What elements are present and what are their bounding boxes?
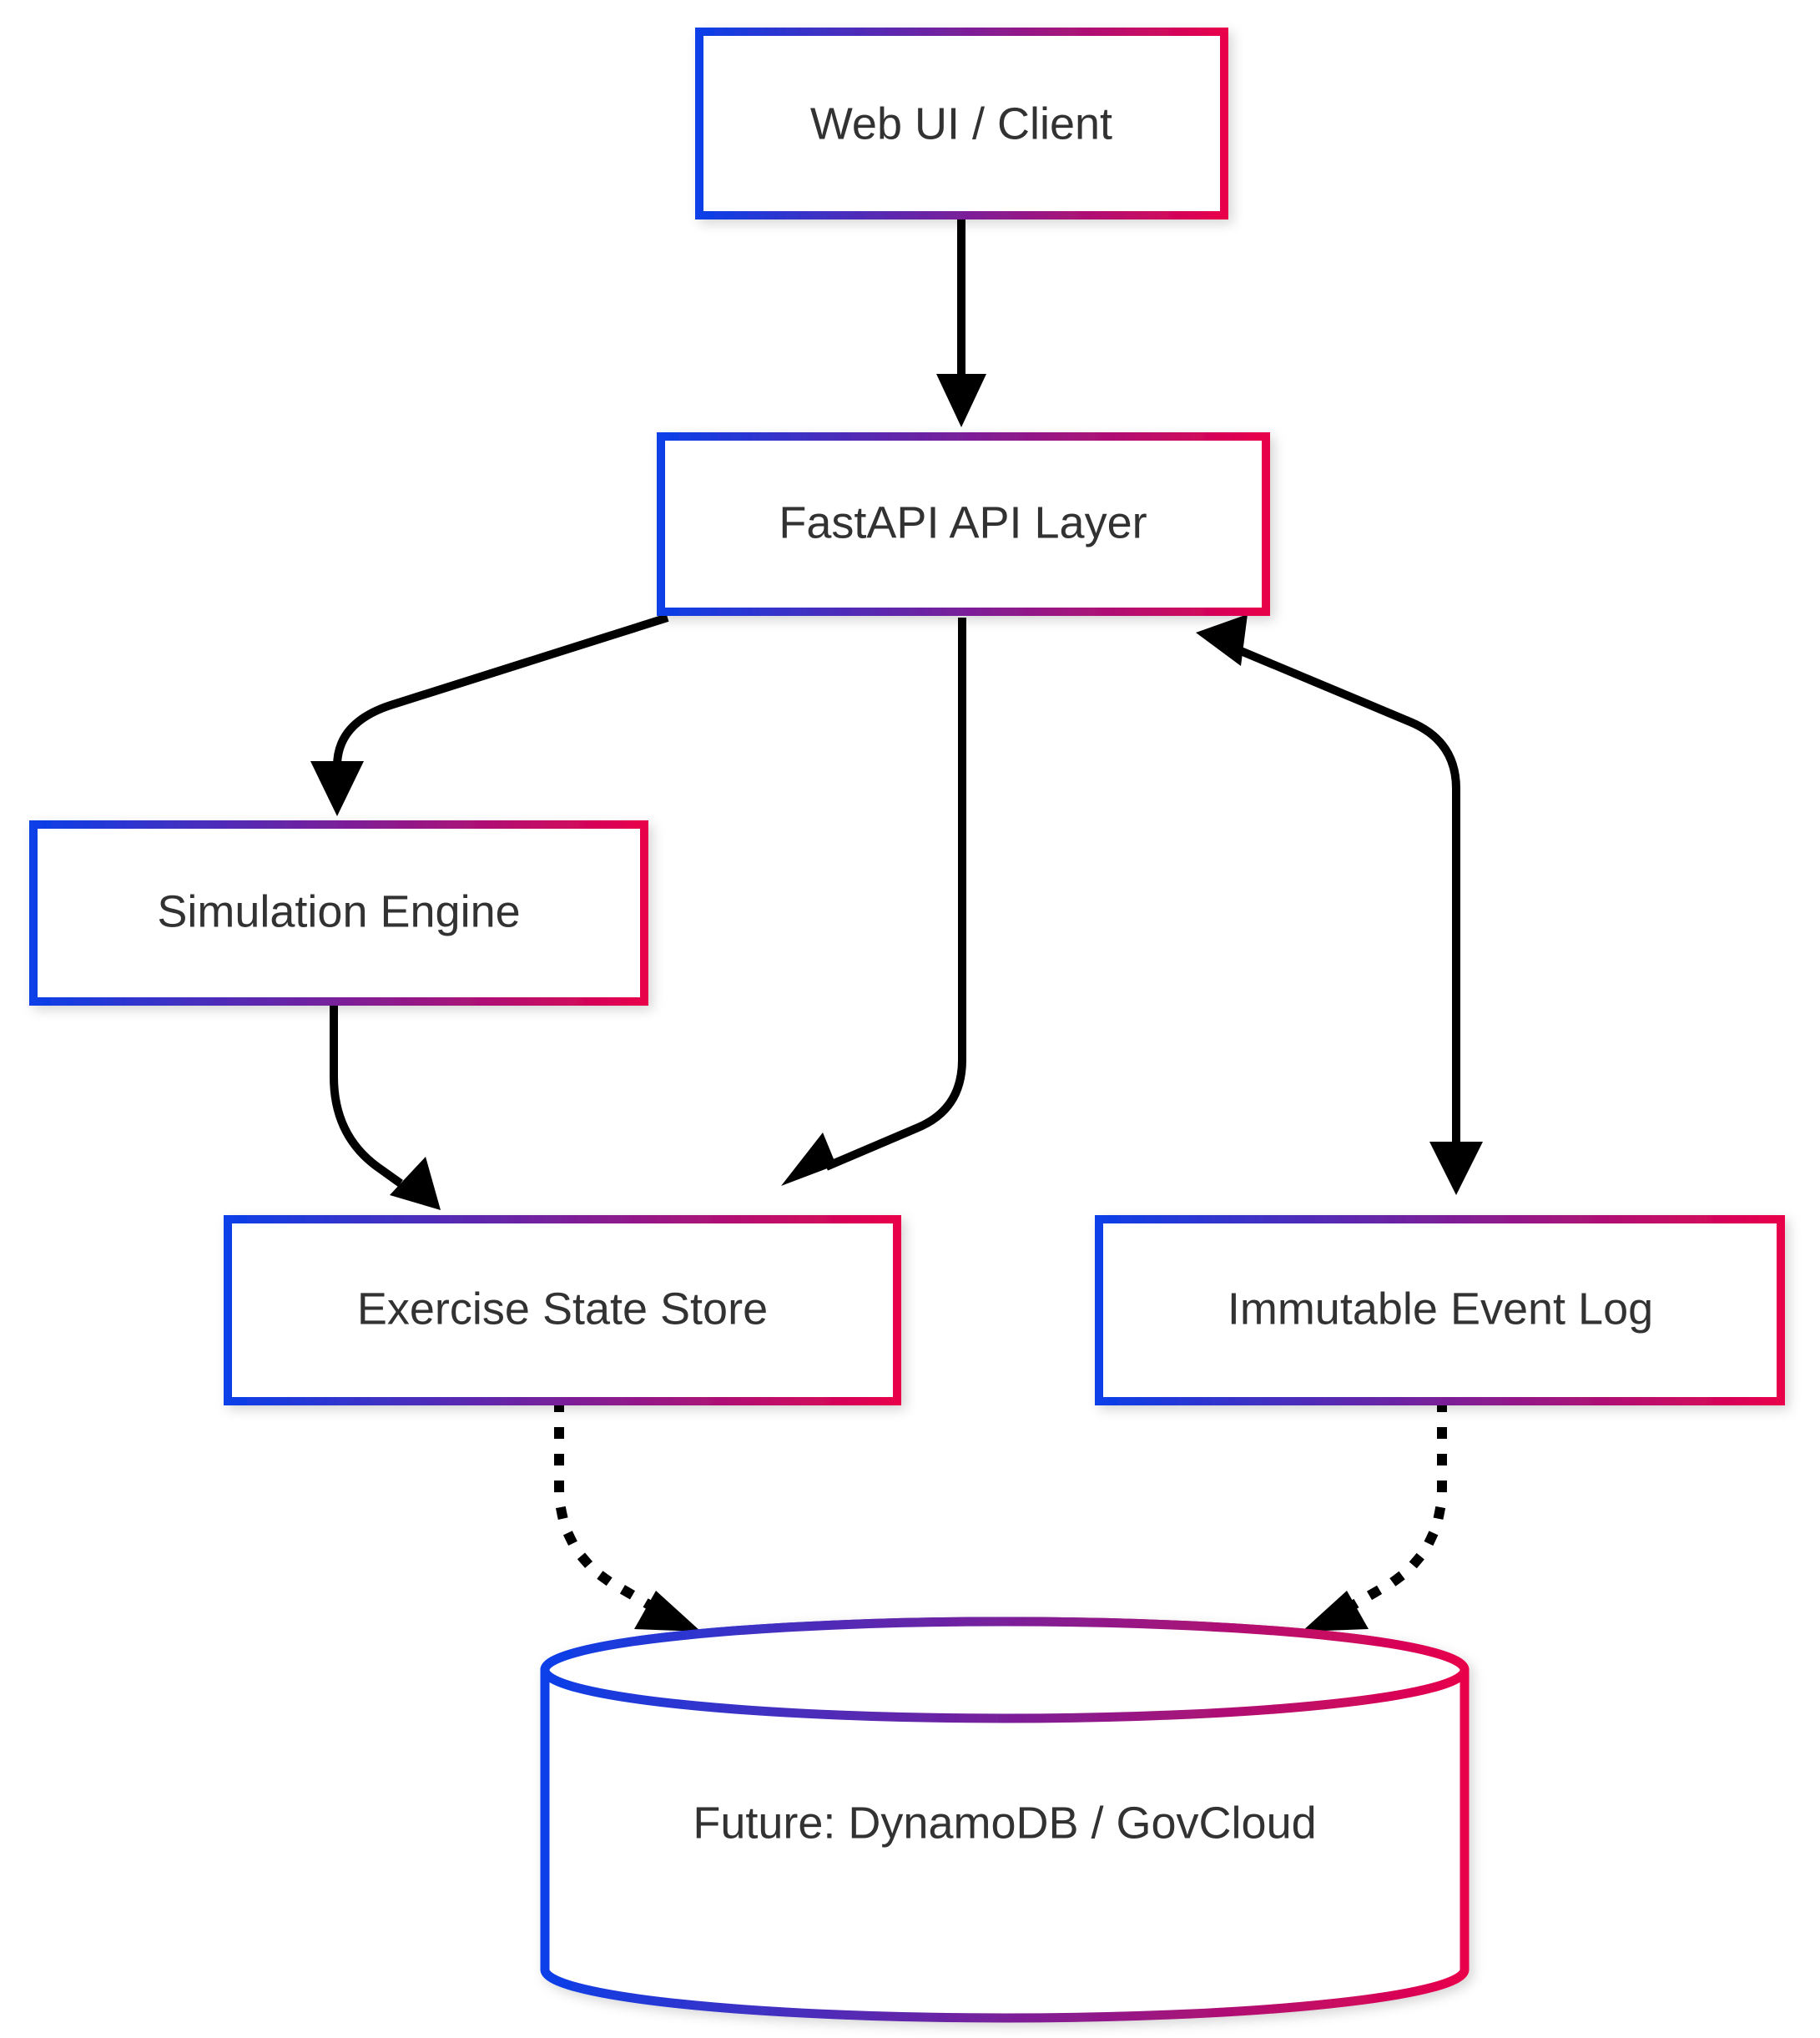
node-exercise-state-store-label: Exercise State Store bbox=[357, 1284, 768, 1334]
node-immutable-event-log[interactable]: Immutable Event Log bbox=[1099, 1219, 1781, 1401]
edge-event-log-to-fastapi bbox=[1196, 614, 1483, 1195]
node-web-ui-client[interactable]: Web UI / Client bbox=[699, 32, 1224, 215]
node-exercise-state-store[interactable]: Exercise State Store bbox=[228, 1219, 897, 1401]
node-future-dynamodb-govcloud[interactable]: Future: DynamoDB / GovCloud bbox=[545, 1622, 1465, 2018]
edge-event-log-to-future-db bbox=[1302, 1405, 1442, 1632]
node-fastapi-api-layer-label: FastAPI API Layer bbox=[779, 497, 1147, 547]
database-cylinder-top bbox=[545, 1622, 1465, 1718]
node-simulation-engine-label: Simulation Engine bbox=[157, 886, 520, 936]
flowchart-canvas: Web UI / Client FastAPI API Layer Simula… bbox=[0, 0, 1820, 2038]
edge-simulation-engine-to-state-store bbox=[334, 1006, 441, 1210]
flowchart-svg: Web UI / Client FastAPI API Layer Simula… bbox=[0, 0, 1820, 2038]
edge-web-ui-to-fastapi bbox=[936, 219, 986, 427]
edge-fastapi-to-state-store bbox=[781, 618, 962, 1186]
node-fastapi-api-layer[interactable]: FastAPI API Layer bbox=[661, 436, 1266, 612]
edge-fastapi-to-simulation-engine bbox=[310, 618, 668, 816]
node-immutable-event-log-label: Immutable Event Log bbox=[1228, 1284, 1653, 1334]
node-simulation-engine[interactable]: Simulation Engine bbox=[33, 825, 644, 1001]
node-web-ui-client-label: Web UI / Client bbox=[810, 98, 1112, 149]
node-future-dynamodb-govcloud-label: Future: DynamoDB / GovCloud bbox=[693, 1798, 1316, 1848]
edge-state-store-to-future-db bbox=[559, 1405, 701, 1632]
